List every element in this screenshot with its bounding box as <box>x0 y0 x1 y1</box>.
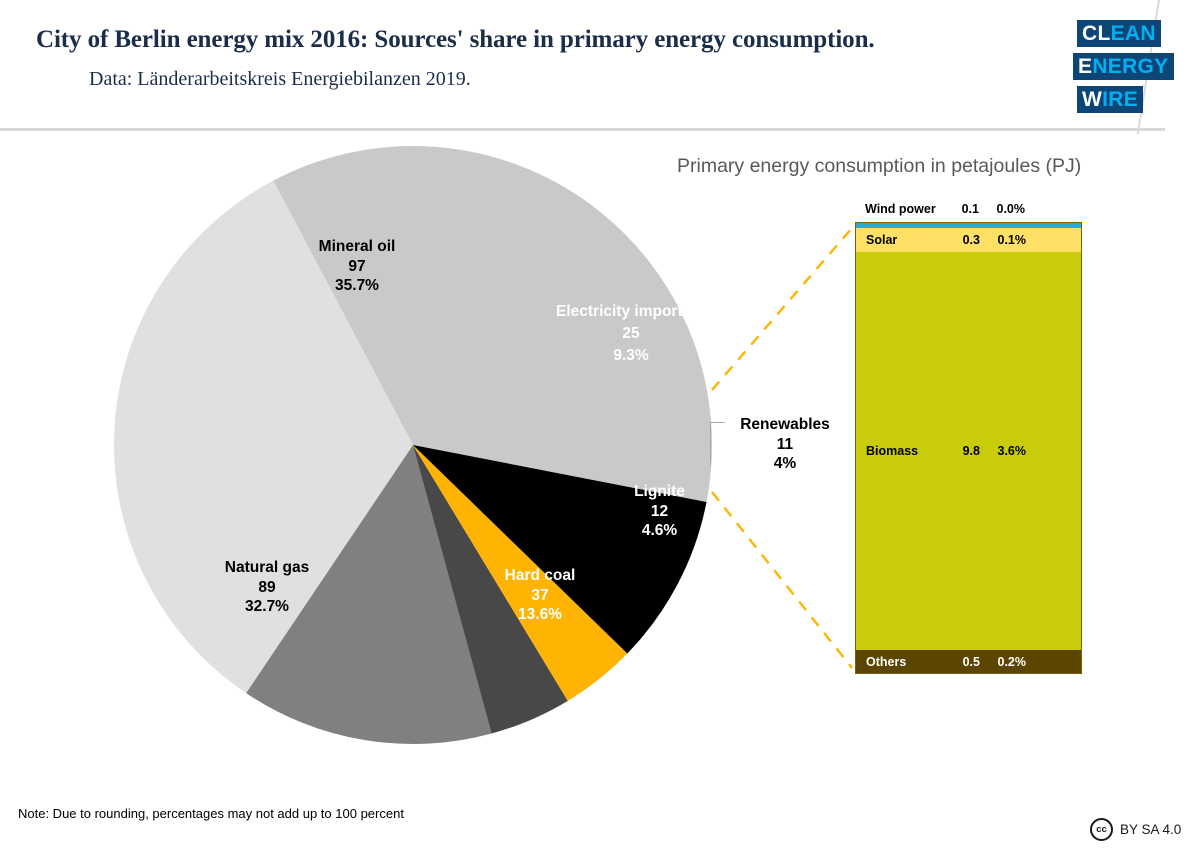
bar-label-others-name: Others <box>866 655 938 669</box>
pie-label-natural-gas-pct: 32.7% <box>172 597 362 617</box>
pie-label-electricity-imports-value: 25 <box>556 323 706 345</box>
bar-label-solar-value: 0.3 <box>938 233 980 247</box>
bar-label-solar: Solar0.30.1% <box>866 233 1026 247</box>
pie-label-lignite-pct: 4.6% <box>577 521 742 541</box>
pie-label-mineral-oil-name: Mineral oil <box>262 237 452 257</box>
pie-label-electricity-imports-name: Electricity imports / Others <box>556 301 706 323</box>
pie-label-renewables-pct: 4% <box>700 454 870 474</box>
bar-label-solar-pct: 0.1% <box>980 233 1026 247</box>
bar-chart-title: Primary energy consumption in petajoules… <box>677 155 1081 178</box>
pie-label-lignite-name: Lignite <box>577 482 742 502</box>
bar-label-biomass-name: Biomass <box>866 444 938 458</box>
renewables-stacked-bar: Solar0.30.1% Biomass9.83.6% Others0.50.2… <box>855 222 1082 674</box>
pie-label-renewables: Renewables 11 4% <box>700 415 870 474</box>
bar-label-wind-power-pct: 0.0% <box>979 202 1025 216</box>
pie-label-hard-coal-value: 37 <box>447 586 633 606</box>
pie-label-electricity-imports: Electricity imports / Others 25 9.3% <box>556 301 706 367</box>
pie-label-natural-gas: Natural gas 89 32.7% <box>172 558 362 617</box>
pie-label-hard-coal: Hard coal 37 13.6% <box>447 566 633 625</box>
bar-label-biomass-pct: 3.6% <box>980 444 1026 458</box>
bar-label-others-value: 0.5 <box>938 655 980 669</box>
bar-label-others-pct: 0.2% <box>980 655 1026 669</box>
pie-label-renewables-value: 11 <box>700 435 870 455</box>
bar-label-biomass-value: 9.8 <box>938 444 980 458</box>
creative-commons-icon: cc <box>1090 818 1113 841</box>
bar-label-wind-power-value: 0.1 <box>937 202 979 216</box>
pie-label-electricity-imports-pct: 9.3% <box>556 345 706 367</box>
pie-label-natural-gas-value: 89 <box>172 578 362 598</box>
pie-label-renewables-name: Renewables <box>700 415 870 435</box>
bar-label-wind-power-name: Wind power <box>865 202 937 216</box>
pie-label-mineral-oil: Mineral oil 97 35.7% <box>262 237 452 296</box>
renewables-leader-line <box>710 422 725 465</box>
pie-label-lignite: Lignite 12 4.6% <box>577 482 742 541</box>
license-badge: cc BY SA 4.0 <box>1090 818 1181 841</box>
bar-label-solar-name: Solar <box>866 233 938 247</box>
bar-label-biomass: Biomass9.83.6% <box>866 444 1026 458</box>
bar-label-wind-power: Wind power0.10.0% <box>865 202 1025 216</box>
license-text: BY SA 4.0 <box>1120 822 1181 837</box>
pie-label-mineral-oil-value: 97 <box>262 257 452 277</box>
bar-segment-solar: Solar0.30.1% <box>856 228 1081 252</box>
bar-segment-others: Others0.50.2% <box>856 650 1081 673</box>
pie-label-mineral-oil-pct: 35.7% <box>262 276 452 296</box>
bar-label-others: Others0.50.2% <box>866 655 1026 669</box>
pie-label-lignite-value: 12 <box>577 502 742 522</box>
bar-segment-biomass: Biomass9.83.6% <box>856 252 1081 650</box>
footer-note: Note: Due to rounding, percentages may n… <box>18 806 404 821</box>
pie-label-hard-coal-pct: 13.6% <box>447 605 633 625</box>
pie-label-natural-gas-name: Natural gas <box>172 558 362 578</box>
pie-label-hard-coal-name: Hard coal <box>447 566 633 586</box>
